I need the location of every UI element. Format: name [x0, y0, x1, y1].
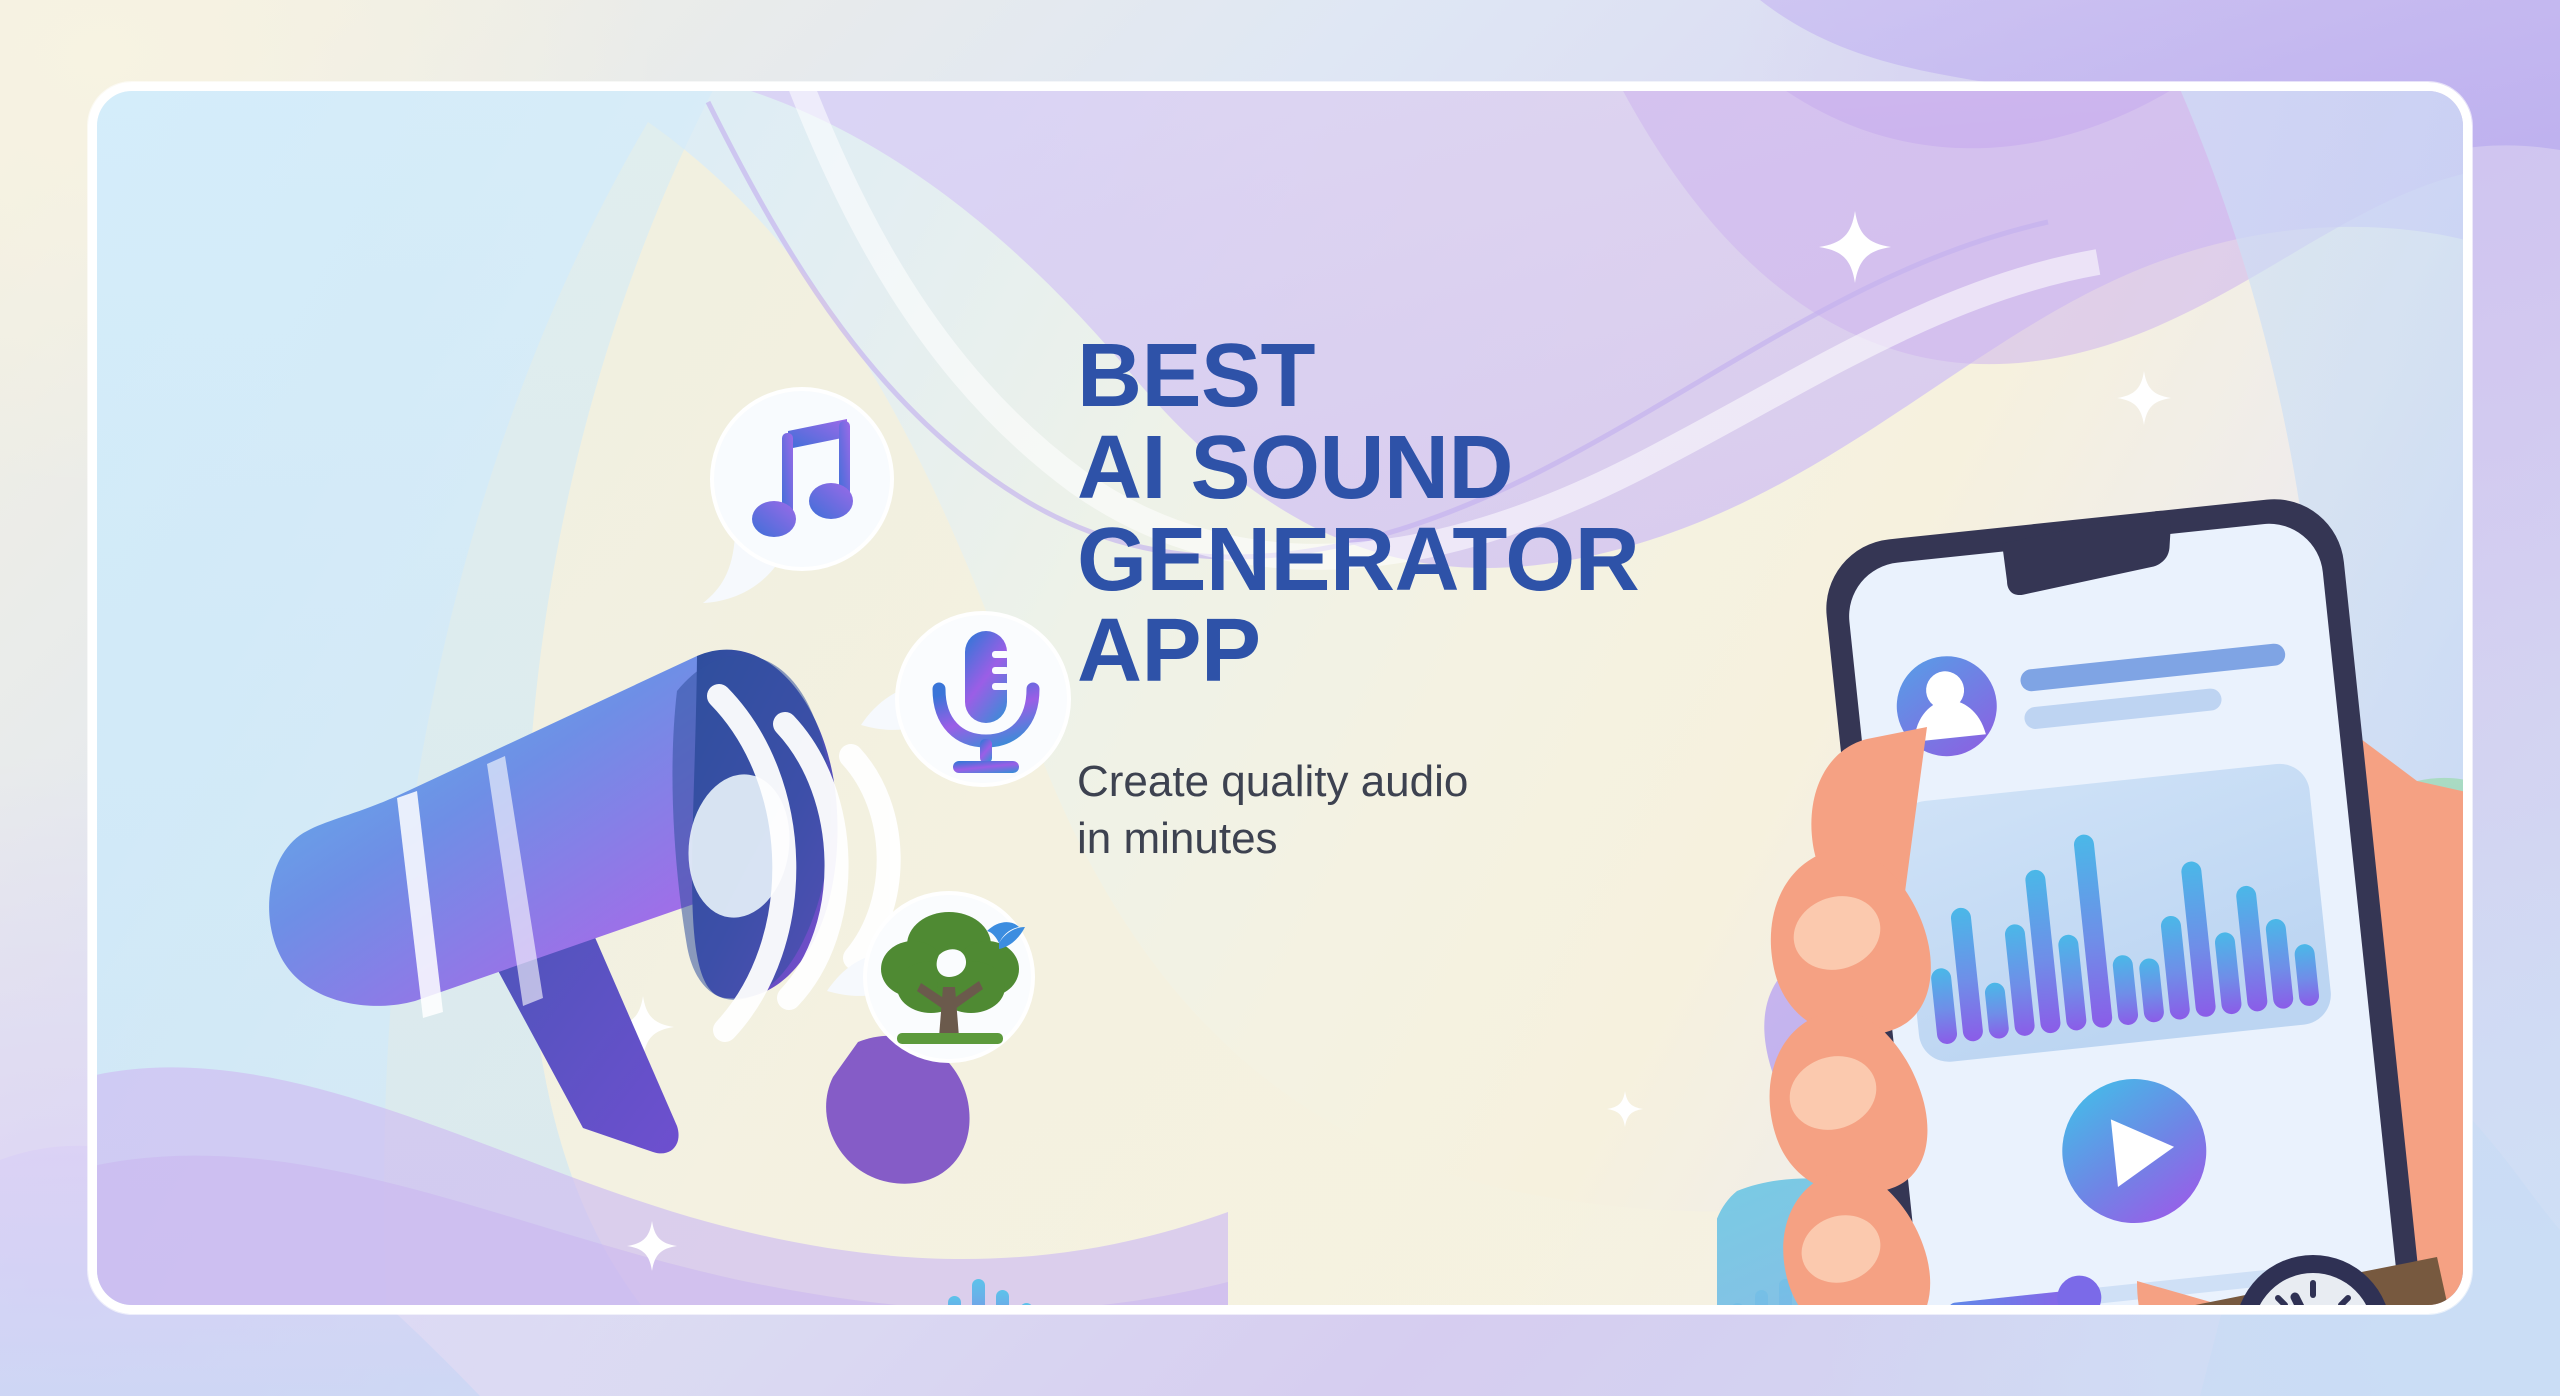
phone-mockup: [1819, 492, 2430, 1305]
sparkle-icon: [2117, 371, 2171, 425]
promo-banner: BEST AI SOUND GENERATOR APP Create quali…: [0, 0, 2560, 1396]
megaphone-icon: [247, 546, 907, 1156]
sparkle-icon: [627, 1221, 677, 1271]
phone-in-hand-illustration: [1717, 421, 2463, 1305]
sparkle-icon: [1607, 1091, 1643, 1127]
banner-card: BEST AI SOUND GENERATOR APP Create quali…: [88, 82, 2472, 1314]
wave-bar: [1020, 1303, 1033, 1305]
sparkle-icon: [1819, 211, 1891, 283]
waveform-left: [867, 1269, 1057, 1305]
wave-bar: [996, 1290, 1009, 1305]
microphone-bubble: [897, 611, 1069, 783]
tagline-text: Top Choice for AI Audio: [1143, 1300, 1621, 1305]
wave-bar: [948, 1296, 961, 1305]
music-bubble: [712, 389, 892, 569]
nature-bubble: [865, 891, 1033, 1059]
wave-bar: [972, 1279, 985, 1305]
